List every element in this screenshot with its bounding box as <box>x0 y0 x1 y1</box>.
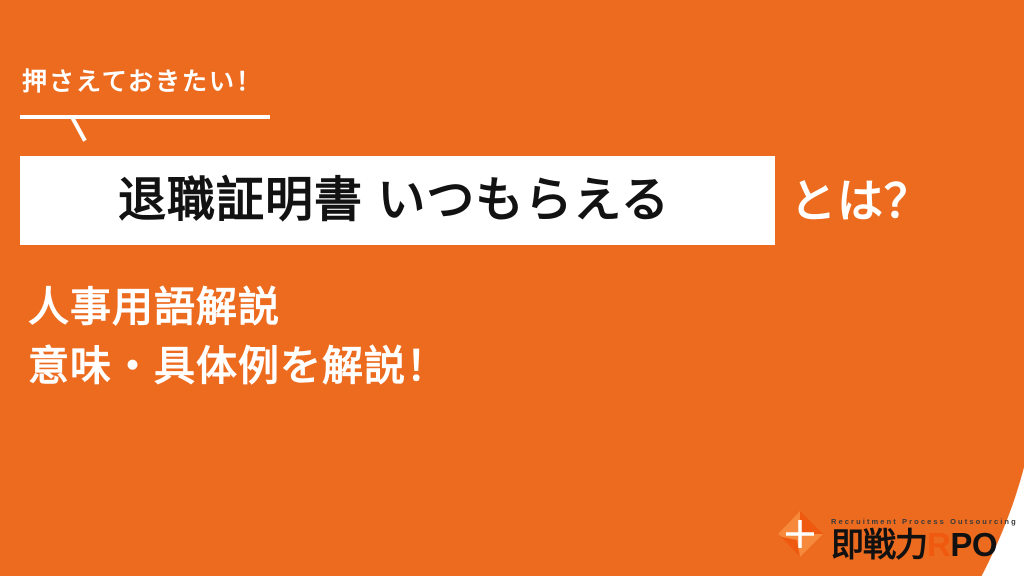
slide-canvas: 押さえておきたい！ 退職証明書 いつもらえる とは？ 人事用語解説 意味・具体例… <box>0 0 1024 576</box>
subtitle-line-2: 意味・具体例を解説！ <box>28 337 448 396</box>
kicker-text: 押さえておきたい！ <box>22 70 263 95</box>
logo-wordmark-r: R <box>927 526 950 563</box>
brand-logo: Recruitment Process Outsourcing 即戦力RPO <box>775 503 1005 561</box>
logo-wordmark-jp: 即戦力 <box>831 526 927 563</box>
subtitle-block: 人事用語解説 意味・具体例を解説！ <box>28 278 448 397</box>
logo-wordmark: 即戦力RPO <box>831 528 1018 561</box>
subtitle-line-1: 人事用語解説 <box>28 278 448 337</box>
pinwheel-icon <box>775 509 825 559</box>
speech-bubble-underline-icon <box>20 112 270 144</box>
logo-text-group: Recruitment Process Outsourcing 即戦力RPO <box>831 518 1018 562</box>
page-title-keyword: 退職証明書 いつもらえる <box>118 177 670 225</box>
page-title-suffix: とは？ <box>790 156 931 245</box>
logo-tagline: Recruitment Process Outsourcing <box>831 518 1018 526</box>
title-keyword-wrap: 退職証明書 いつもらえる <box>118 156 670 245</box>
logo-wordmark-po: PO <box>950 526 997 563</box>
slide-content: 押さえておきたい！ 退職証明書 いつもらえる とは？ 人事用語解説 意味・具体例… <box>0 0 1024 576</box>
